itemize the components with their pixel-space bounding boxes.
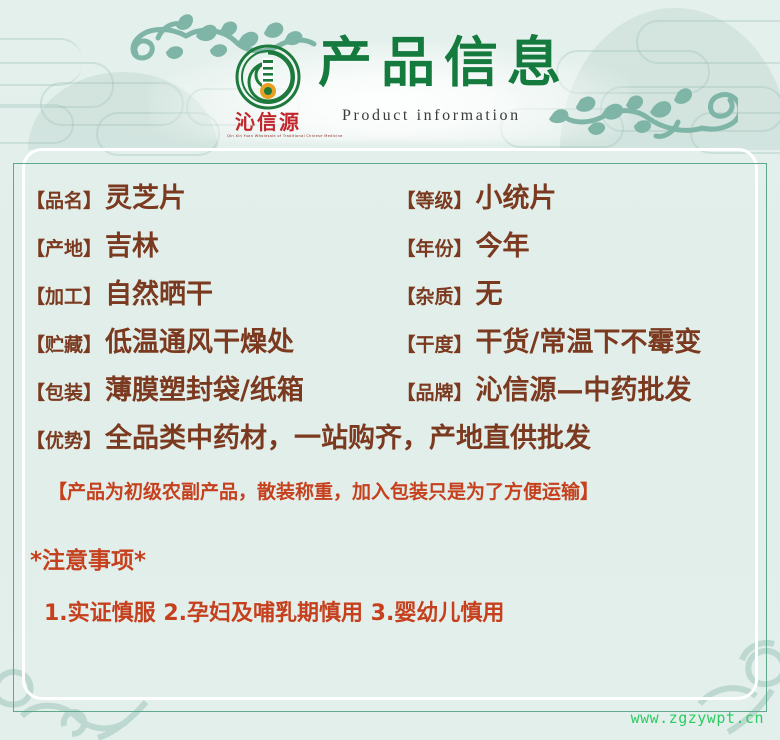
spec-label: 【产地】 xyxy=(26,240,102,259)
spec-item-storage: 【贮藏】 低温通风干燥处 xyxy=(26,329,396,356)
spec-row: 【加工】 自然晒干 【杂质】 无 xyxy=(26,281,757,329)
advantage-label: 【优势】 xyxy=(26,432,102,451)
page-subtitle: Product information xyxy=(342,108,521,124)
spec-item-dryness: 【干度】 干货/常温下不霉变 xyxy=(396,329,757,356)
spec-item-packaging: 【包装】 薄膜塑封袋/纸箱 xyxy=(26,377,396,404)
brand-logo: 沁信源 Qin Xin Yuan Wholesale of Traditiona… xyxy=(227,44,309,136)
cloud-motif xyxy=(600,86,780,132)
spec-item-advantage: 【优势】 全品类中药材，一站购齐，产地直供批发 xyxy=(26,425,757,471)
cloud-motif xyxy=(636,20,780,64)
brand-name-cn: 沁信源 xyxy=(227,112,309,132)
cloud-motif xyxy=(40,82,184,126)
spec-value: 小统片 xyxy=(475,185,556,212)
cloud-motif xyxy=(556,50,710,94)
spec-value: 沁信源—中药批发 xyxy=(475,377,691,404)
spec-item-grade: 【等级】 小统片 xyxy=(396,185,757,212)
spec-item-product-name: 【品名】 灵芝片 xyxy=(26,185,396,212)
page-title: 产品信息 xyxy=(318,36,570,90)
spec-label: 【品名】 xyxy=(26,192,102,211)
advantage-value: 全品类中药材，一站购齐，产地直供批发 xyxy=(105,425,591,452)
spec-value: 灵芝片 xyxy=(105,185,186,212)
spec-label: 【包装】 xyxy=(26,384,102,403)
cloud-motif xyxy=(0,38,82,86)
spec-row: 【产地】 吉林 【年份】 今年 xyxy=(26,233,757,281)
site-watermark: www.zgzywpt.cn xyxy=(631,711,764,726)
spec-value: 今年 xyxy=(475,233,529,260)
spec-label: 【加工】 xyxy=(26,288,102,307)
spec-row: 【贮藏】 低温通风干燥处 【干度】 干货/常温下不霉变 xyxy=(26,329,757,377)
spec-label: 【干度】 xyxy=(396,336,472,355)
product-information-banner: 沁信源 Qin Xin Yuan Wholesale of Traditiona… xyxy=(0,0,780,740)
spec-item-brand: 【品牌】 沁信源—中药批发 xyxy=(396,377,757,404)
spec-value: 无 xyxy=(475,281,502,308)
brand-name-en: Qin Xin Yuan Wholesale of Traditional Ch… xyxy=(227,134,309,139)
spec-item-impurity: 【杂质】 无 xyxy=(396,281,757,308)
spec-value: 薄膜塑封袋/纸箱 xyxy=(105,377,304,404)
product-spec-panel: 【品名】 灵芝片 【等级】 小统片 【产地】 吉林 【年份】 今年 【加工】 自… xyxy=(13,163,767,712)
spec-label: 【品牌】 xyxy=(396,384,472,403)
spec-value: 自然晒干 xyxy=(105,281,213,308)
precautions-list: 1.实证慎服 2.孕妇及哺乳期慎用 3.婴幼儿慎用 xyxy=(44,603,757,625)
spec-value: 干货/常温下不霉变 xyxy=(475,329,701,356)
brand-emblem-icon xyxy=(235,44,301,110)
spec-label: 【杂质】 xyxy=(396,288,472,307)
spec-label: 【贮藏】 xyxy=(26,336,102,355)
spec-row: 【品名】 灵芝片 【等级】 小统片 xyxy=(26,185,757,233)
cloud-motif xyxy=(0,62,114,108)
precautions-heading: *注意事项* xyxy=(30,550,757,573)
spec-item-year: 【年份】 今年 xyxy=(396,233,757,260)
mountain-silhouette-right xyxy=(560,8,780,150)
mountain-silhouette-left xyxy=(28,72,218,150)
cloud-motif xyxy=(0,104,74,144)
spec-value: 低温通风干燥处 xyxy=(105,329,294,356)
spec-label: 【等级】 xyxy=(396,192,472,211)
spec-row: 【包装】 薄膜塑封袋/纸箱 【品牌】 沁信源—中药批发 xyxy=(26,377,757,425)
spec-item-origin: 【产地】 吉林 xyxy=(26,233,396,260)
spec-item-processing: 【加工】 自然晒干 xyxy=(26,281,396,308)
spec-label: 【年份】 xyxy=(396,240,472,259)
spec-value: 吉林 xyxy=(105,233,159,260)
packaging-disclaimer: 【产品为初级农副产品，散装称重，加入包装只是为了方便运输】 xyxy=(48,483,757,502)
